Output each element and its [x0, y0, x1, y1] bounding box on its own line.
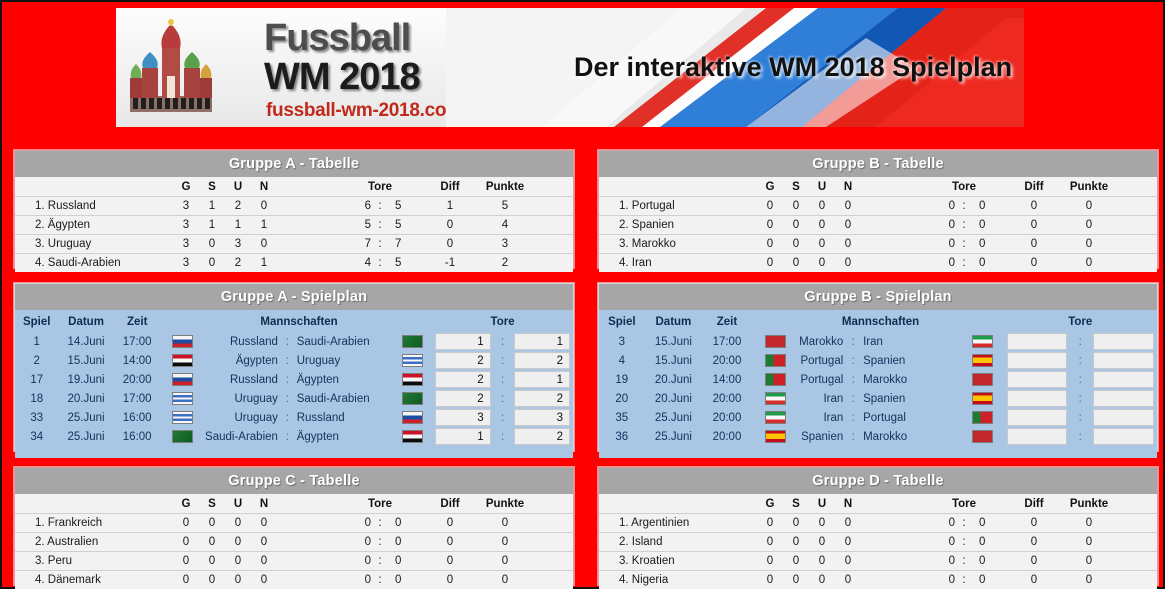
- cell-spacer: [861, 533, 921, 552]
- cell-u: 0: [809, 533, 835, 552]
- cell-vs-colon: :: [282, 370, 293, 389]
- cell-diff: 0: [423, 235, 477, 254]
- cell-punkte: 0: [1061, 254, 1117, 273]
- cell-spiel: 18: [15, 389, 58, 408]
- cell-goals-against: 0: [973, 552, 1007, 571]
- cell-spacer2: [533, 235, 573, 254]
- cell-diff: 0: [1007, 571, 1061, 589]
- cell-u: 0: [809, 235, 835, 254]
- flag-marokko-icon: [765, 335, 786, 348]
- cell-u: 1: [225, 216, 251, 235]
- cell-vs-colon: :: [282, 427, 293, 446]
- cell-home-team: Iran: [799, 389, 847, 408]
- panel-gruppe-d-tabelle: Gruppe D - Tabelle G S U N Tore Diff Pun…: [598, 467, 1158, 585]
- cell-g: 0: [757, 235, 783, 254]
- cell-colon: :: [371, 235, 389, 254]
- cell-punkte: 0: [477, 514, 533, 533]
- th-spacer: [277, 494, 337, 514]
- cell-away-team: Saudi-Arabien: [293, 332, 393, 351]
- th-mannschaften: Mannschaften: [205, 310, 393, 332]
- table-row[interactable]: 4. Saudi-Arabien 3 0 2 1 4 : 5 -1 2: [15, 254, 573, 273]
- schedule-row[interactable]: 18 20.Juni 17:00 Uruguay : Saudi-Arabien…: [15, 389, 573, 408]
- cell-goals-for: 0: [921, 235, 955, 254]
- flag-saudi-arabien-icon: [172, 430, 193, 443]
- cell-colon: :: [955, 197, 973, 216]
- banner-title-line2: WM 2018: [264, 56, 420, 99]
- th-zeit: Zeit: [702, 310, 752, 332]
- score-separator: :: [494, 370, 512, 389]
- th-diff: Diff: [423, 494, 477, 514]
- table-row[interactable]: 1. Portugal 0 0 0 0 0 : 0 0 0: [599, 197, 1157, 216]
- cell-g: 3: [173, 254, 199, 273]
- schedule-header-row: Spiel Datum Zeit Mannschaften Tore: [15, 310, 573, 332]
- th-team: [15, 494, 173, 514]
- cell-team: 1. Russland: [15, 197, 173, 216]
- th-punkte: Punkte: [1061, 494, 1117, 514]
- cell-s: 0: [783, 254, 809, 273]
- flag-portugal-icon: [972, 411, 993, 424]
- cell-goals-for: 0: [921, 216, 955, 235]
- cell-diff: 0: [423, 552, 477, 571]
- cell-vs-colon: :: [847, 351, 859, 370]
- cell-spacer: [861, 571, 921, 589]
- schedule-row[interactable]: 1 14.Juni 17:00 Russland : Saudi-Arabien…: [15, 332, 573, 351]
- flag-marokko-icon: [972, 430, 993, 443]
- score-separator: :: [1070, 370, 1090, 389]
- cell-s: 0: [199, 254, 225, 273]
- cell-colon: :: [955, 254, 973, 273]
- cell-u: 0: [809, 571, 835, 589]
- cell-team: 3. Kroatien: [599, 552, 757, 571]
- cell-n: 0: [835, 514, 861, 533]
- cell-diff: 0: [1007, 552, 1061, 571]
- schedule-row[interactable]: 3 15.Juni 17:00 Marokko : Iran :: [599, 332, 1157, 351]
- cell-punkte: 2: [477, 254, 533, 273]
- cell-punkte: 4: [477, 216, 533, 235]
- th-flag-home: [752, 310, 799, 332]
- th-spacer2: [533, 177, 573, 197]
- cell-team: 2. Australien: [15, 533, 173, 552]
- cell-zeit: 14:00: [114, 351, 161, 370]
- cell-diff: 0: [1007, 254, 1061, 273]
- cell-datum: 14.Juni: [58, 332, 113, 351]
- th-team: [599, 494, 757, 514]
- th-zeit: Zeit: [114, 310, 161, 332]
- cell-s: 0: [199, 235, 225, 254]
- th-tore: Tore: [337, 177, 423, 197]
- cell-u: 2: [225, 197, 251, 216]
- cell-vs-colon: :: [282, 389, 293, 408]
- cell-spiel: 20: [599, 389, 645, 408]
- cell-s: 1: [199, 197, 225, 216]
- th-flag-away: [962, 310, 1004, 332]
- banner-right-panel: Der interaktive WM 2018 Spielplan: [446, 8, 1024, 127]
- table-row[interactable]: 4. Iran 0 0 0 0 0 : 0 0 0: [599, 254, 1157, 273]
- flag-saudi-arabien-icon: [402, 392, 423, 405]
- cell-away-team: Iran: [859, 332, 962, 351]
- flag-uruguay-icon: [172, 411, 193, 424]
- th-g: G: [757, 494, 783, 514]
- table-header-row: G S U N Tore Diff Punkte: [15, 494, 573, 514]
- schedule-row[interactable]: 35 25.Juni 20:00 Iran : Portugal :: [599, 408, 1157, 427]
- th-tore: Tore: [921, 494, 1007, 514]
- table-row[interactable]: 1. Russland 3 1 2 0 6 : 5 1 5: [15, 197, 573, 216]
- cell-zeit: 20:00: [114, 370, 161, 389]
- th-spiel: Spiel: [599, 310, 645, 332]
- schedule-row[interactable]: 33 25.Juni 16:00 Uruguay : Russland 3 : …: [15, 408, 573, 427]
- flag-spanien-icon: [765, 430, 786, 443]
- cell-goals-for: 0: [921, 197, 955, 216]
- cell-diff: 0: [1007, 533, 1061, 552]
- schedule-row[interactable]: 2 15.Juni 14:00 Ägypten : Uruguay 2 : 2: [15, 351, 573, 370]
- cell-goals-against: 0: [389, 514, 423, 533]
- th-tore: Tore: [1004, 310, 1158, 332]
- score-away-input[interactable]: [1093, 428, 1154, 445]
- th-n: N: [835, 494, 861, 514]
- cell-g: 0: [757, 533, 783, 552]
- cell-spacer2: [1117, 216, 1157, 235]
- cell-goals-against: 0: [973, 571, 1007, 589]
- th-flag-home: [161, 310, 205, 332]
- cell-n: 0: [251, 514, 277, 533]
- cell-punkte: 0: [1061, 514, 1117, 533]
- score-home-input[interactable]: 2: [435, 371, 491, 388]
- score-separator: :: [494, 427, 512, 446]
- cell-away-team: Saudi-Arabien: [293, 389, 393, 408]
- schedule-row[interactable]: 4 15.Juni 20:00 Portugal : Spanien :: [599, 351, 1157, 370]
- cell-diff: 0: [1007, 235, 1061, 254]
- th-s: S: [199, 177, 225, 197]
- score-away-input[interactable]: 2: [514, 390, 570, 407]
- schedule-table-a: Spiel Datum Zeit Mannschaften Tore 1 14.…: [15, 310, 573, 458]
- score-away-input[interactable]: 3: [514, 409, 570, 426]
- cell-away-team: Russland: [293, 408, 393, 427]
- cell-colon: :: [371, 197, 389, 216]
- cell-punkte: 0: [1061, 533, 1117, 552]
- score-away-input[interactable]: [1093, 371, 1154, 388]
- cell-goals-against: 7: [389, 235, 423, 254]
- cell-g: 0: [173, 533, 199, 552]
- th-diff: Diff: [1007, 177, 1061, 197]
- cell-goals-against: 0: [973, 514, 1007, 533]
- cell-n: 0: [251, 533, 277, 552]
- cell-goals-against: 0: [389, 533, 423, 552]
- cell-vs-colon: :: [847, 389, 859, 408]
- cell-goals-against: 0: [973, 254, 1007, 273]
- standings-table-d: G S U N Tore Diff Punkte 1. Argentinien …: [599, 494, 1157, 589]
- cell-s: 1: [199, 216, 225, 235]
- cell-team: 4. Saudi-Arabien: [15, 254, 173, 273]
- cell-away-team: Uruguay: [293, 351, 393, 370]
- cell-goals-against: 0: [973, 216, 1007, 235]
- th-s: S: [783, 494, 809, 514]
- cell-datum: 25.Juni: [58, 408, 113, 427]
- schedule-row[interactable]: 20 20.Juni 20:00 Iran : Spanien :: [599, 389, 1157, 408]
- th-s: S: [783, 177, 809, 197]
- score-away-input[interactable]: 1: [514, 333, 570, 350]
- table-row[interactable]: 3. Kroatien 0 0 0 0 0 : 0 0 0: [599, 552, 1157, 571]
- score-home-input[interactable]: [1007, 409, 1068, 426]
- schedule-row[interactable]: 17 19.Juni 20:00 Russland : Ägypten 2 : …: [15, 370, 573, 389]
- banner-url[interactable]: fussball-wm-2018.com: [266, 100, 463, 122]
- cell-away-team: Ägypten: [293, 427, 393, 446]
- table-row[interactable]: 4. Dänemark 0 0 0 0 0 : 0 0 0: [15, 571, 573, 589]
- cell-spacer: [861, 197, 921, 216]
- cell-colon: :: [371, 533, 389, 552]
- th-u: U: [809, 177, 835, 197]
- cell-team: 4. Nigeria: [599, 571, 757, 589]
- cell-punkte: 0: [1061, 197, 1117, 216]
- flag-spanien-icon: [972, 392, 993, 405]
- cell-n: 0: [251, 552, 277, 571]
- cell-datum: 25.Juni: [645, 408, 703, 427]
- kremlin-icon: [126, 18, 216, 118]
- cell-goals-for: 0: [337, 514, 371, 533]
- cell-home-team: Saudi-Arabien: [205, 427, 282, 446]
- schedule-row[interactable]: 34 25.Juni 16:00 Saudi-Arabien : Ägypten…: [15, 427, 573, 446]
- cell-s: 0: [783, 514, 809, 533]
- flag-portugal-icon: [765, 354, 786, 367]
- cell-u: 0: [225, 514, 251, 533]
- panel-title: Gruppe A - Spielplan: [15, 284, 573, 310]
- cell-spiel: 3: [599, 332, 645, 351]
- cell-zeit: 20:00: [702, 351, 752, 370]
- score-away-input[interactable]: [1093, 352, 1154, 369]
- score-home-input[interactable]: 2: [435, 352, 491, 369]
- schedule-row[interactable]: 36 25.Juni 20:00 Spanien : Marokko :: [599, 427, 1157, 446]
- table-header-row: G S U N Tore Diff Punkte: [15, 177, 573, 197]
- score-away-input[interactable]: [1093, 409, 1154, 426]
- cell-s: 0: [199, 533, 225, 552]
- cell-goals-against: 5: [389, 197, 423, 216]
- cell-home-team: Marokko: [799, 332, 847, 351]
- banner-subtitle: Der interaktive WM 2018 Spielplan: [574, 52, 1012, 83]
- cell-spacer: [277, 533, 337, 552]
- cell-g: 0: [173, 552, 199, 571]
- score-home-input[interactable]: 3: [435, 409, 491, 426]
- cell-zeit: 14:00: [702, 370, 752, 389]
- score-separator: :: [494, 351, 512, 370]
- cell-team: 1. Argentinien: [599, 514, 757, 533]
- cell-team: 3. Marokko: [599, 235, 757, 254]
- cell-goals-for: 0: [337, 552, 371, 571]
- cell-spiel: 34: [15, 427, 58, 446]
- cell-datum: 20.Juni: [58, 389, 113, 408]
- cell-home-team: Portugal: [799, 351, 847, 370]
- cell-g: 0: [757, 254, 783, 273]
- cell-spacer2: [533, 571, 573, 589]
- cell-g: 3: [173, 235, 199, 254]
- table-row[interactable]: 3. Uruguay 3 0 3 0 7 : 7 0 3: [15, 235, 573, 254]
- cell-home-team: Uruguay: [205, 389, 282, 408]
- flag-iran-icon: [765, 411, 786, 424]
- standings-table-c: G S U N Tore Diff Punkte 1. Frankreich 0…: [15, 494, 573, 589]
- cell-punkte: 0: [477, 571, 533, 589]
- score-away-input[interactable]: [1093, 333, 1154, 350]
- cell-diff: -1: [423, 254, 477, 273]
- cell-away-team: Portugal: [859, 408, 962, 427]
- score-home-input[interactable]: [1007, 390, 1068, 407]
- standings-table-b: G S U N Tore Diff Punkte 1. Portugal 0 0…: [599, 177, 1157, 272]
- th-spacer: [277, 177, 337, 197]
- cell-vs-colon: :: [847, 370, 859, 389]
- table-row[interactable]: 1. Argentinien 0 0 0 0 0 : 0 0 0: [599, 514, 1157, 533]
- cell-punkte: 0: [1061, 216, 1117, 235]
- cell-spacer2: [1117, 235, 1157, 254]
- cell-n: 0: [835, 235, 861, 254]
- cell-team: 4. Iran: [599, 254, 757, 273]
- cell-spacer: [861, 254, 921, 273]
- cell-punkte: 3: [477, 235, 533, 254]
- cell-colon: :: [955, 571, 973, 589]
- cell-s: 0: [783, 533, 809, 552]
- cell-goals-against: 0: [973, 197, 1007, 216]
- flag-marokko-icon: [972, 373, 993, 386]
- panel-gruppe-a-spielplan: Gruppe A - Spielplan Spiel Datum Zeit Ma…: [14, 283, 574, 451]
- site-banner: Fussball WM 2018 fussball-wm-2018.com De…: [116, 8, 1024, 127]
- cell-spacer: [277, 235, 337, 254]
- cell-spacer: [277, 254, 337, 273]
- cell-g: 0: [173, 514, 199, 533]
- th-flag-away: [393, 310, 432, 332]
- panel-title: Gruppe B - Spielplan: [599, 284, 1157, 310]
- cell-goals-for: 7: [337, 235, 371, 254]
- cell-spacer2: [533, 197, 573, 216]
- score-separator: :: [1070, 332, 1090, 351]
- score-home-input[interactable]: 2: [435, 390, 491, 407]
- panel-gruppe-c-tabelle: Gruppe C - Tabelle G S U N Tore Diff Pun…: [14, 467, 574, 585]
- cell-spiel: 4: [599, 351, 645, 370]
- score-separator: :: [494, 389, 512, 408]
- table-header-row: G S U N Tore Diff Punkte: [599, 494, 1157, 514]
- cell-g: 3: [173, 197, 199, 216]
- schedule-row[interactable]: 19 20.Juni 14:00 Portugal : Marokko :: [599, 370, 1157, 389]
- score-away-input[interactable]: 1: [514, 371, 570, 388]
- cell-diff: 0: [1007, 514, 1061, 533]
- cell-zeit: 17:00: [114, 332, 161, 351]
- flag-saudi-arabien-icon: [402, 335, 423, 348]
- table-row[interactable]: 1. Frankreich 0 0 0 0 0 : 0 0 0: [15, 514, 573, 533]
- cell-spiel: 1: [15, 332, 58, 351]
- score-away-input[interactable]: [1093, 390, 1154, 407]
- cell-datum: 20.Juni: [645, 370, 703, 389]
- cell-zeit: 17:00: [114, 389, 161, 408]
- cell-s: 0: [199, 552, 225, 571]
- flag-spanien-icon: [972, 354, 993, 367]
- score-separator: :: [1070, 389, 1090, 408]
- score-home-input[interactable]: [1007, 371, 1068, 388]
- app-root: Fussball WM 2018 fussball-wm-2018.com De…: [2, 2, 1163, 587]
- cell-team: 1. Portugal: [599, 197, 757, 216]
- cell-spacer2: [533, 514, 573, 533]
- cell-spacer2: [533, 216, 573, 235]
- cell-zeit: 17:00: [702, 332, 752, 351]
- score-separator: :: [1070, 351, 1090, 370]
- cell-spacer2: [1117, 552, 1157, 571]
- th-datum: Datum: [58, 310, 113, 332]
- th-diff: Diff: [423, 177, 477, 197]
- cell-u: 0: [225, 552, 251, 571]
- cell-spacer2: [533, 552, 573, 571]
- cell-away-team: Ägypten: [293, 370, 393, 389]
- th-tore: Tore: [432, 310, 573, 332]
- th-tore: Tore: [921, 177, 1007, 197]
- score-home-input[interactable]: 1: [435, 428, 491, 445]
- score-home-input[interactable]: [1007, 352, 1068, 369]
- score-home-input[interactable]: [1007, 428, 1068, 445]
- th-g: G: [757, 177, 783, 197]
- panel-title: Gruppe A - Tabelle: [15, 151, 573, 177]
- panel-title: Gruppe C - Tabelle: [15, 468, 573, 494]
- cell-g: 3: [173, 216, 199, 235]
- cell-home-team: Uruguay: [205, 408, 282, 427]
- banner-title-line1: Fussball: [264, 17, 410, 60]
- table-row[interactable]: 2. Ägypten 3 1 1 1 5 : 5 0 4: [15, 216, 573, 235]
- score-home-input[interactable]: [1007, 333, 1068, 350]
- th-u: U: [225, 494, 251, 514]
- cell-home-team: Ägypten: [205, 351, 282, 370]
- score-separator: :: [1070, 408, 1090, 427]
- panel-title: Gruppe D - Tabelle: [599, 468, 1157, 494]
- score-separator: :: [494, 408, 512, 427]
- table-row[interactable]: 2. Island 0 0 0 0 0 : 0 0 0: [599, 533, 1157, 552]
- flag-russland-icon: [402, 411, 423, 424]
- cell-spacer2: [1117, 254, 1157, 273]
- cell-team: 3. Peru: [15, 552, 173, 571]
- score-home-input[interactable]: 1: [435, 333, 491, 350]
- cell-spacer: [277, 216, 337, 235]
- th-n: N: [251, 177, 277, 197]
- cell-spiel: 36: [599, 427, 645, 446]
- score-separator: :: [1070, 427, 1090, 446]
- table-row[interactable]: 2. Spanien 0 0 0 0 0 : 0 0 0: [599, 216, 1157, 235]
- table-row[interactable]: 3. Peru 0 0 0 0 0 : 0 0 0: [15, 552, 573, 571]
- cell-goals-for: 0: [921, 254, 955, 273]
- cell-spacer: [861, 235, 921, 254]
- cell-datum: 19.Juni: [58, 370, 113, 389]
- table-row[interactable]: 2. Australien 0 0 0 0 0 : 0 0 0: [15, 533, 573, 552]
- cell-u: 2: [225, 254, 251, 273]
- cell-spacer2: [1117, 533, 1157, 552]
- table-row[interactable]: 3. Marokko 0 0 0 0 0 : 0 0 0: [599, 235, 1157, 254]
- cell-n: 0: [835, 216, 861, 235]
- cell-goals-for: 4: [337, 254, 371, 273]
- th-punkte: Punkte: [1061, 177, 1117, 197]
- cell-s: 0: [783, 552, 809, 571]
- cell-g: 0: [757, 514, 783, 533]
- cell-spacer: [861, 552, 921, 571]
- th-spacer2: [533, 494, 573, 514]
- cell-vs-colon: :: [282, 332, 293, 351]
- cell-punkte: 0: [477, 552, 533, 571]
- cell-team: 1. Frankreich: [15, 514, 173, 533]
- cell-team: 4. Dänemark: [15, 571, 173, 589]
- score-away-input[interactable]: 2: [514, 428, 570, 445]
- cell-spacer: [861, 216, 921, 235]
- cell-away-team: Spanien: [859, 351, 962, 370]
- score-away-input[interactable]: 2: [514, 352, 570, 369]
- flag-iran-icon: [765, 392, 786, 405]
- cell-goals-for: 0: [921, 514, 955, 533]
- cell-s: 0: [783, 235, 809, 254]
- cell-colon: :: [955, 533, 973, 552]
- th-punkte: Punkte: [477, 494, 533, 514]
- table-row[interactable]: 4. Nigeria 0 0 0 0 0 : 0 0 0: [599, 571, 1157, 589]
- panel-title: Gruppe B - Tabelle: [599, 151, 1157, 177]
- cell-colon: :: [371, 571, 389, 589]
- flag-iran-icon: [972, 335, 993, 348]
- th-n: N: [251, 494, 277, 514]
